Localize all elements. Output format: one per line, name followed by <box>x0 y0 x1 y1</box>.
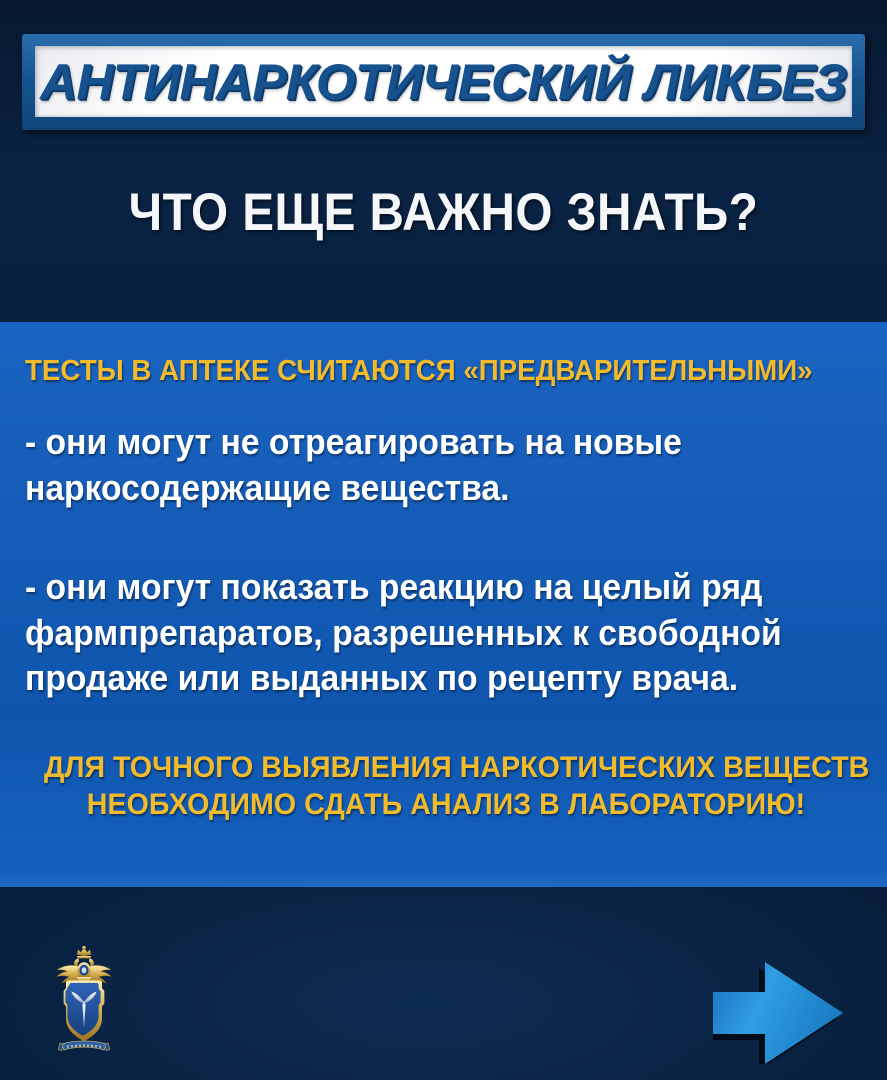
bullet-item-2: - они могут показать реакцию на целый ря… <box>25 564 812 700</box>
lead-heading: ТЕСТЫ В АПТЕКЕ СЧИТАЮТСЯ «ПРЕДВАРИТЕЛЬНЫ… <box>25 356 829 386</box>
header-banner-inner: АНТИНАРКОТИЧЕСКИЙ ЛИКБЕЗ <box>35 46 852 117</box>
closing-line-2: НЕОБХОДИМО СДАТЬ АНАЛИЗ В ЛАБОРАТОРИЮ! <box>44 787 848 824</box>
next-arrow-icon[interactable] <box>713 962 863 1064</box>
content-panel: ТЕСТЫ В АПТЕКЕ СЧИТАЮТСЯ «ПРЕДВАРИТЕЛЬНЫ… <box>0 322 887 887</box>
bullet-item-1: - они могут не отреагировать на новые на… <box>25 419 812 510</box>
poster-root: АНТИНАРКОТИЧЕСКИЙ ЛИКБЕЗ ЧТО ЕЩЕ ВАЖНО З… <box>0 0 887 1080</box>
mvd-emblem-icon <box>45 946 123 1060</box>
header-banner: АНТИНАРКОТИЧЕСКИЙ ЛИКБЕЗ <box>22 34 865 130</box>
banner-title: АНТИНАРКОТИЧЕСКИЙ ЛИКБЕЗ <box>40 57 846 107</box>
closing-callout: ДЛЯ ТОЧНОГО ВЫЯВЛЕНИЯ НАРКОТИЧЕСКИХ ВЕЩЕ… <box>44 750 848 823</box>
page-title: ЧТО ЕЩЕ ВАЖНО ЗНАТЬ? <box>44 186 842 239</box>
closing-line-1: ДЛЯ ТОЧНОГО ВЫЯВЛЕНИЯ НАРКОТИЧЕСКИХ ВЕЩЕ… <box>44 750 848 787</box>
